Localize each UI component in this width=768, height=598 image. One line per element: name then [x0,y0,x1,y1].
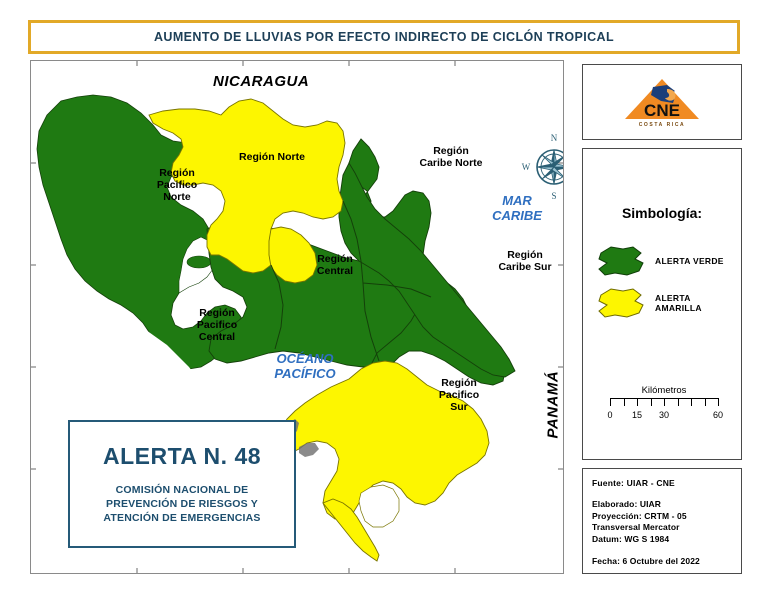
metadata-lines: Elaborado: UIARProyección: CRTM - 05Tran… [592,499,735,545]
country-label-panama: PANAMÁ [545,411,562,439]
scale-tick [664,398,665,406]
alerta-organization-name: COMISIÓN NACIONAL DE PREVENCIÓN DE RIESG… [103,483,260,525]
scale-tick [718,398,719,406]
metadata-line: Elaborado: UIAR [592,499,735,511]
scale-tick [637,398,638,406]
scale-label: 60 [713,410,723,420]
metadata-fuente: Fuente: UIAR - CNE [592,478,735,488]
logo-acronym: CNE [644,101,680,120]
compass-w-label: W [522,162,531,172]
cne-logo-icon: CNE [623,77,701,121]
scale-bar-title: Kilómetros [601,385,727,396]
map-poster: AUMENTO DE LLUVIAS POR EFECTO INDIRECTO … [0,0,768,598]
scale-bar: Kilómetros 0153060 [601,385,727,422]
country-label-nicaragua: NICARAGUA [213,73,309,90]
legend-item-alerta-amarilla: ALERTA AMARILLA [595,283,735,323]
metadata-line: Datum: WG S 1984 [592,534,735,546]
scale-label: 0 [607,410,612,420]
title-box: AUMENTO DE LLUVIAS POR EFECTO INDIRECTO … [28,20,740,54]
scale-tick [678,398,679,406]
legend-panel: Simbología: ALERTA VERDE ALERTA AMARILLA… [582,148,742,460]
scale-label: 30 [659,410,669,420]
logo-caption: COSTA RICA [639,122,686,128]
legend-label-verde: ALERTA VERDE [655,256,724,266]
metadata-line: Transversal Mercator [592,522,735,534]
scale-tick [651,398,652,406]
legend-item-alerta-verde: ALERTA VERDE [595,241,735,281]
golfo-dulce-water [359,485,399,527]
ocean-label-mar-caribe: MAR CARIBE [471,193,563,223]
scale-bar-ticks [610,398,718,409]
compass-rose-icon: N E S W [518,129,564,201]
legend-swatch-amarilla [595,285,647,321]
ocean-label-oceano-pacifico: OCÉANO PACÍFICO [253,351,357,381]
legend-swatch-verde [595,243,647,279]
compass-n-label: N [551,133,558,143]
scale-label: 15 [632,410,642,420]
metadata-fecha: Fecha: 6 Octubre del 2022 [592,556,735,566]
region-norte-east-lobe [269,227,317,283]
isla-chira [187,256,211,268]
metadata-line: Proyección: CRTM - 05 [592,511,735,523]
page-title: AUMENTO DE LLUVIAS POR EFECTO INDIRECTO … [154,30,614,44]
scale-tick [624,398,625,406]
metadata-panel: Fuente: UIAR - CNE Elaborado: UIARProyec… [582,468,742,574]
alerta-number-box: ALERTA N. 48 COMISIÓN NACIONAL DE PREVEN… [68,420,296,548]
alerta-number-title: ALERTA N. 48 [103,443,261,470]
scale-tick [610,398,611,406]
scale-tick [705,398,706,406]
logo-panel: CNE COSTA RICA [582,64,742,140]
legend-label-amarilla: ALERTA AMARILLA [655,293,735,313]
scale-tick [691,398,692,406]
legend-title: Simbología: [583,205,741,221]
scale-bar-labels: 0153060 [610,410,718,422]
